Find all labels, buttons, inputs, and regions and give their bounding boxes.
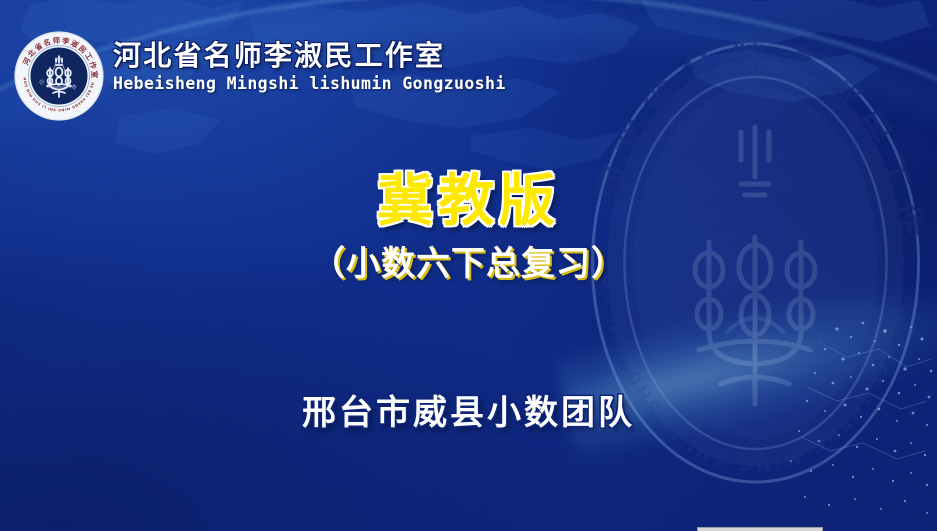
organization-name-pinyin: Hebeisheng Mingshi lishumin Gongzuoshi bbox=[113, 74, 506, 93]
page-title: 冀教版 bbox=[0, 172, 937, 231]
workshop-seal-logo: 河北省名师李淑民工作室 HE BEI SHENG MING SHI LI SHU… bbox=[14, 31, 104, 121]
page-subtitle: （小数六下总复习） bbox=[0, 236, 937, 285]
bottom-strip-artifact bbox=[697, 527, 823, 531]
horizon-flare bbox=[552, 253, 937, 467]
svg-text:四: 四 bbox=[659, 304, 698, 344]
title-block: 冀教版 （小数六下总复习） bbox=[0, 172, 937, 285]
organization-name-chinese: 河北省名师李淑民工作室 bbox=[113, 40, 506, 71]
header-text-group: 河北省名师李淑民工作室 Hebeisheng Mingshi lishumin … bbox=[113, 40, 506, 93]
svg-text:教: 教 bbox=[802, 331, 840, 370]
team-name: 邢台市威县小数团队 bbox=[0, 385, 937, 434]
presentation-slide: 河北省名师李淑民工作室 HE BEI SHENG MING SHI LI SHU… bbox=[0, 0, 937, 531]
slide-header: 河北省名师李淑民工作室 HE BEI SHENG MING SHI LI SHU… bbox=[0, 0, 937, 128]
